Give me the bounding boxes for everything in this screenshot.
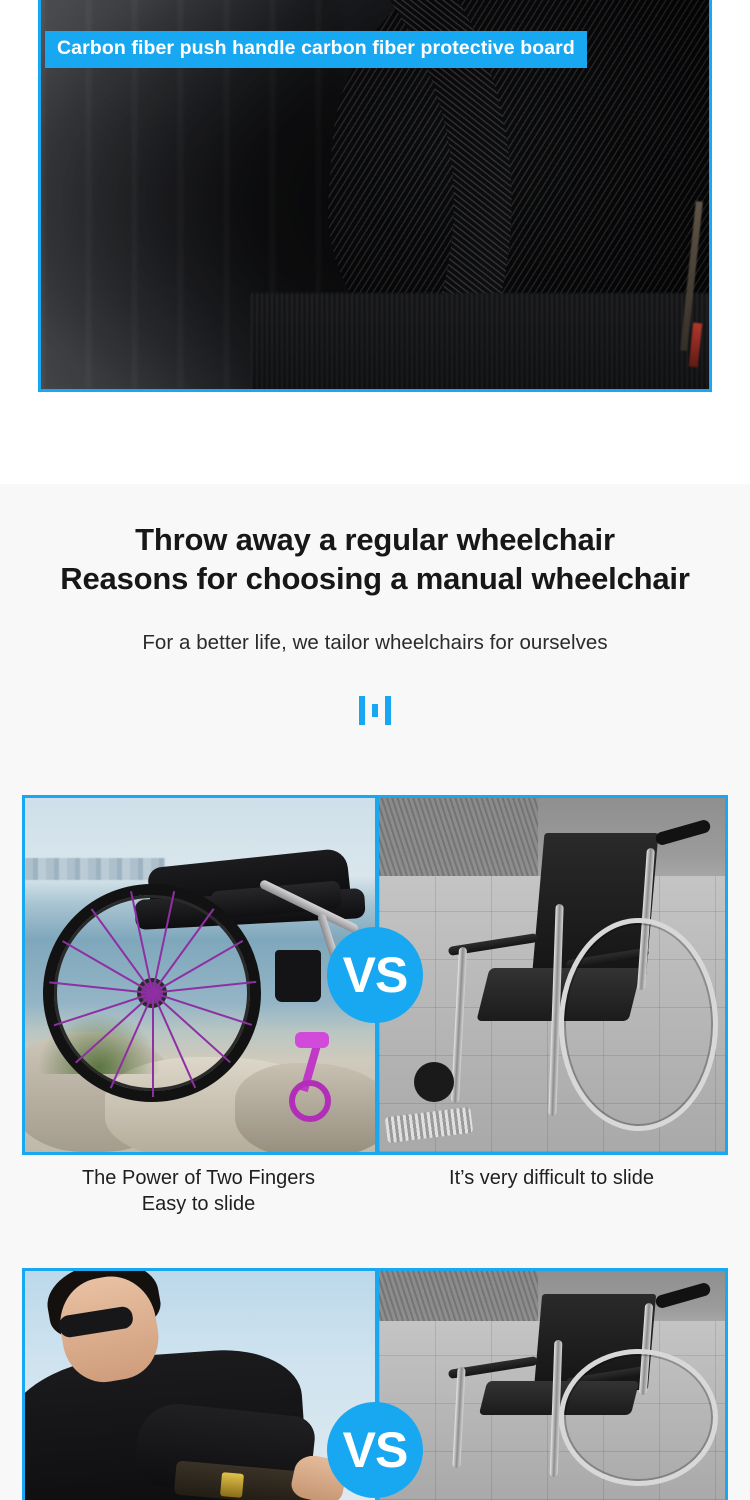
ornament-bar-right xyxy=(385,696,391,725)
ornament-bar-left xyxy=(359,696,365,725)
comparison-1-captions: The Power of Two Fingers Easy to slide I… xyxy=(22,1166,728,1217)
comparison-block-2: VS xyxy=(22,1268,728,1500)
vs-badge: VS xyxy=(327,1402,423,1498)
wheelchair-push-handle xyxy=(654,819,711,847)
caption-right: It’s very difficult to slide xyxy=(375,1166,728,1217)
comparison-2-right-photo xyxy=(379,1271,725,1500)
comparison-1-left-photo xyxy=(25,798,375,1152)
heading-line-2: Reasons for choosing a manual wheelchair xyxy=(0,559,750,598)
heading-line-1: Throw away a regular wheelchair xyxy=(135,522,615,557)
wheelchair-push-handle xyxy=(654,1282,711,1310)
divider-ornament-icon xyxy=(0,695,750,727)
comparison-2-left-photo xyxy=(25,1271,375,1500)
wheelchair-rear-wheel xyxy=(559,918,718,1130)
wheelchair-pouch xyxy=(275,950,321,1002)
comparison-block-1: VS xyxy=(22,795,728,1155)
section-subtitle: For a better life, we tailor wheelchairs… xyxy=(0,631,750,655)
ornament-bar-center xyxy=(372,704,378,717)
city-skyline xyxy=(25,858,165,880)
hero-caption-banner: Carbon fiber push handle carbon fiber pr… xyxy=(45,31,587,68)
caption-left-line-2: Easy to slide xyxy=(22,1192,375,1218)
comparison-1-right-photo xyxy=(379,798,725,1152)
wheelchair-rear-wheel xyxy=(559,1349,718,1486)
wheel-spokes xyxy=(43,884,261,1102)
vs-badge: VS xyxy=(327,927,423,1023)
pouch-badge xyxy=(220,1472,244,1498)
childrens-trike xyxy=(283,1026,369,1122)
caption-left: The Power of Two Fingers Easy to slide xyxy=(22,1166,375,1217)
floor-mat xyxy=(251,293,712,392)
caption-left-line-1: The Power of Two Fingers xyxy=(82,1167,315,1189)
section-heading: Throw away a regular wheelchair Reasons … xyxy=(0,484,750,599)
wheelchair-caster xyxy=(414,1062,454,1102)
carbon-fiber-photo-frame: Carbon fiber push handle carbon fiber pr… xyxy=(38,0,712,392)
hero-section: Carbon fiber push handle carbon fiber pr… xyxy=(0,0,750,484)
